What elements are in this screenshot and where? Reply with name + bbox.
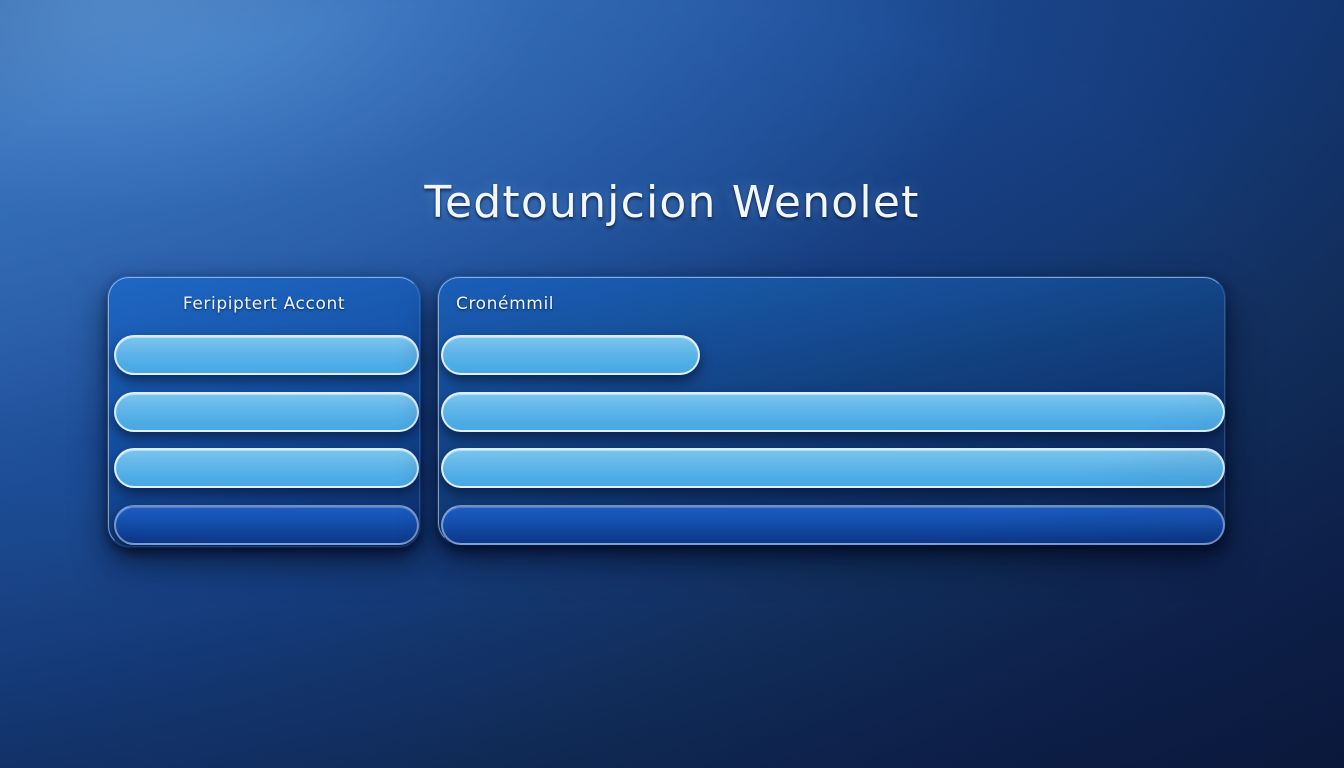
panel-left-row-4[interactable] xyxy=(114,505,419,545)
panel-left-row-3[interactable] xyxy=(114,448,419,488)
panel-right-row-4[interactable] xyxy=(441,505,1225,545)
panel-right-row-2[interactable] xyxy=(441,392,1225,432)
panel-left: Feripiptert Accont xyxy=(107,276,421,548)
panel-left-row-2[interactable] xyxy=(114,392,419,432)
panel-left-header: Feripiptert Accont xyxy=(107,294,421,314)
panel-right-header: Cronémmil xyxy=(456,294,554,314)
panel-right-row-1[interactable] xyxy=(441,335,700,375)
panel-left-row-1[interactable] xyxy=(114,335,419,375)
app-root: Tedtounjcion Wenolet Feripiptert Accont … xyxy=(0,0,1344,768)
panel-right-row-3[interactable] xyxy=(441,448,1225,488)
page-title: Tedtounjcion Wenolet xyxy=(0,177,1344,228)
panel-right: Cronémmil xyxy=(437,276,1226,545)
